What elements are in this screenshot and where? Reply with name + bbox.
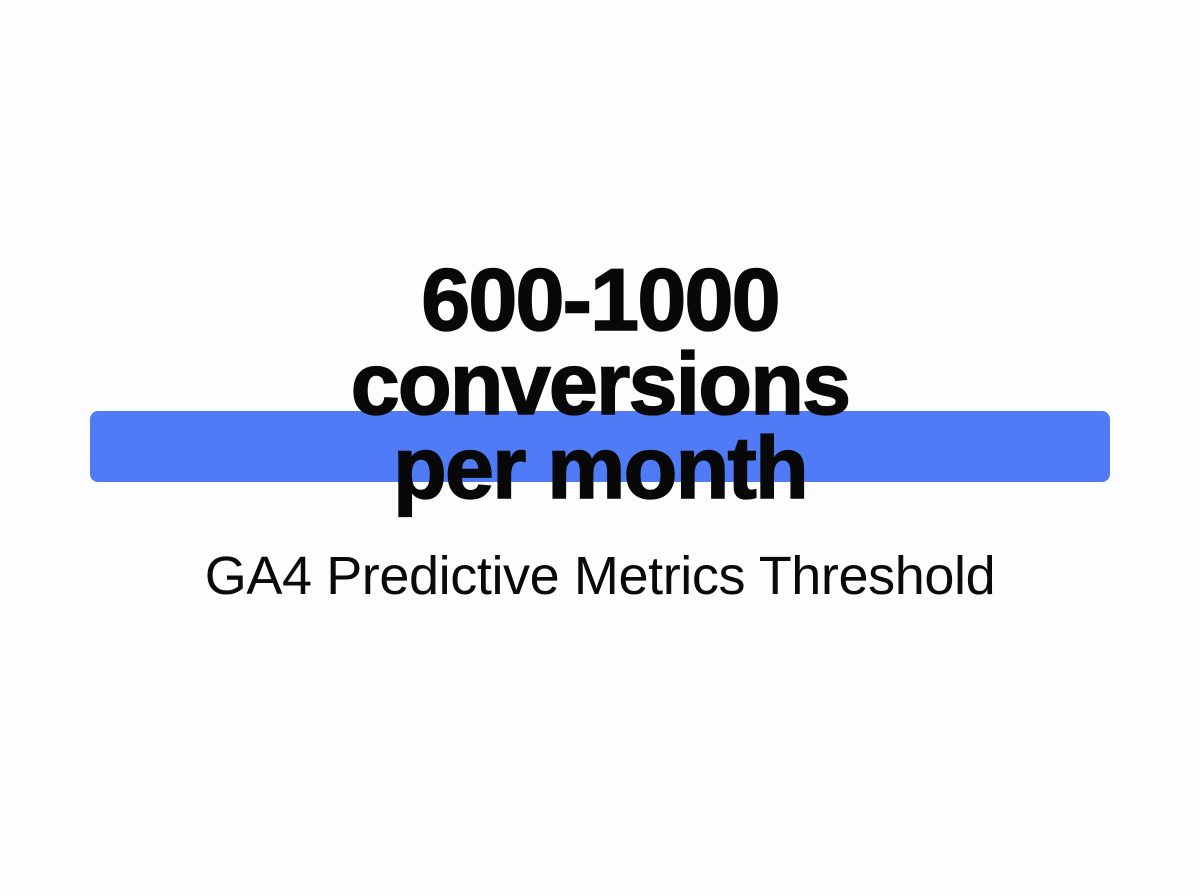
subtitle: GA4 Predictive Metrics Threshold xyxy=(0,548,1200,605)
slide-canvas: 600-1000 conversions per month GA4 Predi… xyxy=(0,0,1200,896)
headline-line-1: 600-1000 xyxy=(0,258,1200,342)
highlight-bar xyxy=(90,411,1110,482)
